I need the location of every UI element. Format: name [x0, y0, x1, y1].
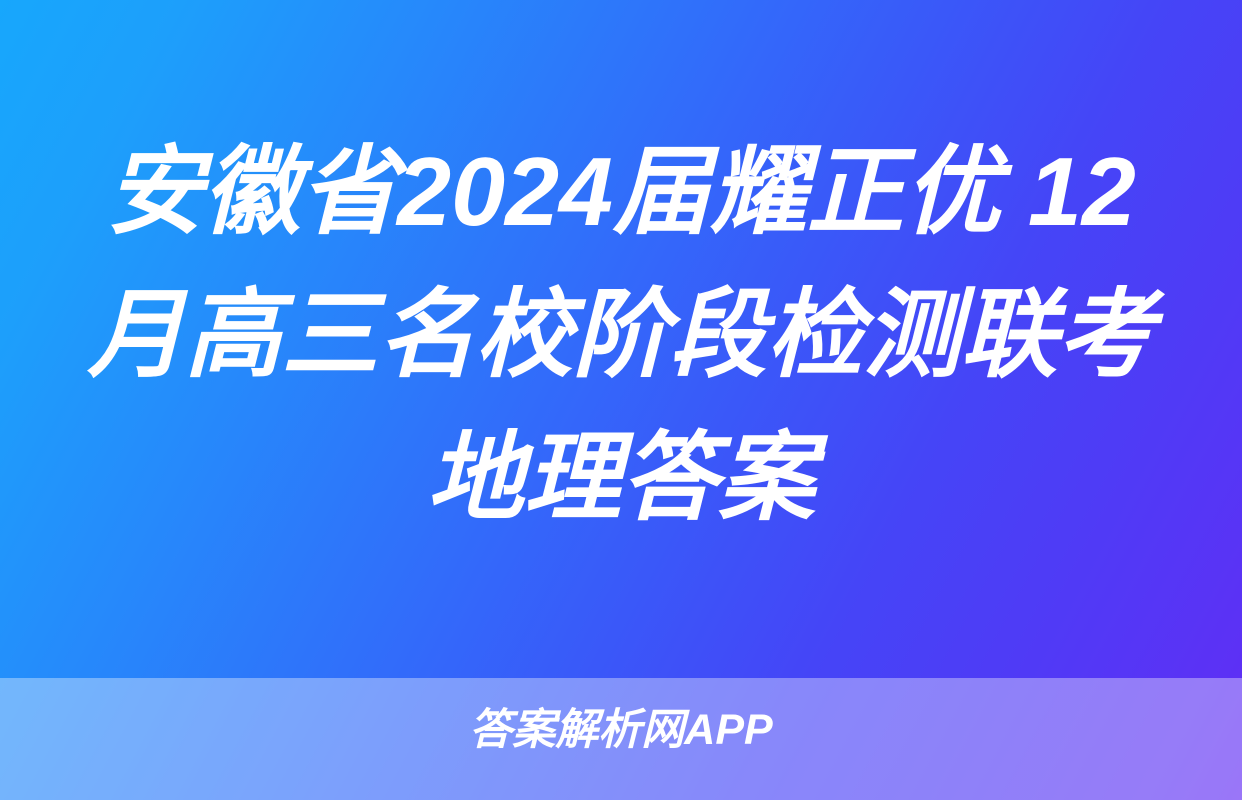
banner-title-line-3: 地理答案 [78, 406, 1164, 549]
watermark-band: 答案解析网APP [0, 678, 1242, 800]
banner-title-line-1: 安徽省2024届耀正优 12 [78, 120, 1164, 263]
banner-title-line-2: 月高三名校阶段检测联考 [78, 263, 1164, 406]
banner-title-block: 安徽省2024届耀正优 12 月高三名校阶段检测联考 地理答案 [0, 0, 1242, 678]
watermark-app-label: 答案解析网APP [469, 704, 772, 756]
exam-answer-banner: 安徽省2024届耀正优 12 月高三名校阶段检测联考 地理答案 答案解析网APP [0, 0, 1242, 800]
